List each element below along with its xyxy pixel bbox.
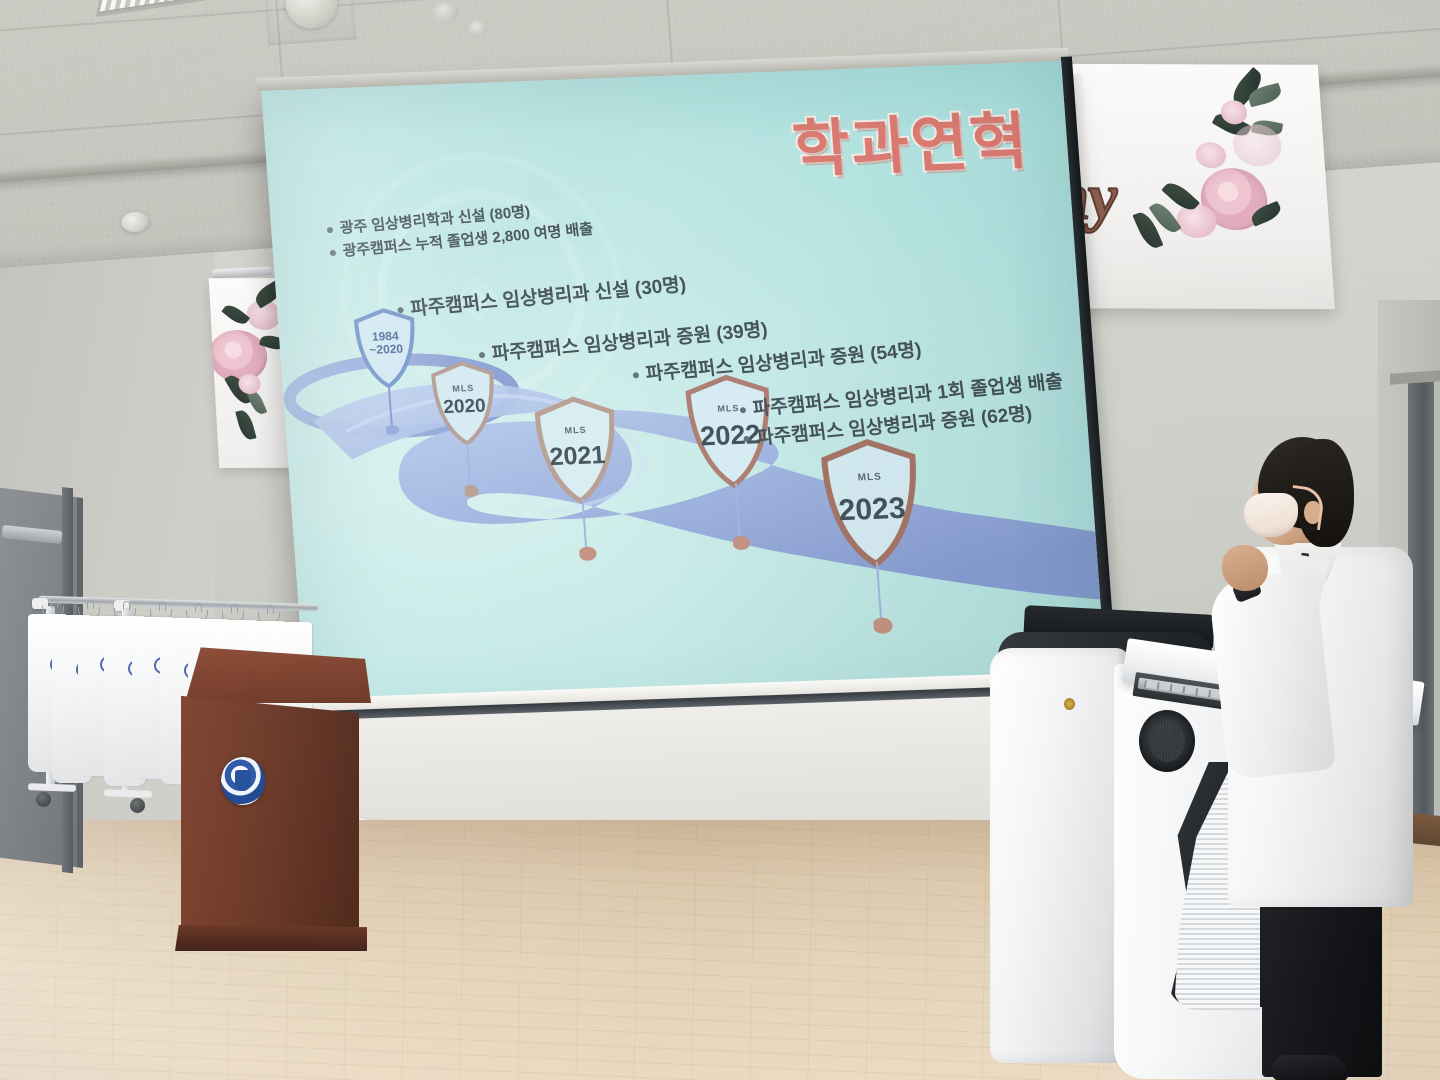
bullet-dot-icon — [743, 436, 750, 443]
rack-caster-icon — [36, 792, 51, 807]
bullet-dot-icon — [327, 227, 334, 234]
rack-foot — [104, 789, 152, 798]
console-left-panel — [990, 648, 1130, 1063]
projection-screen: U S ◈ 학과연혁 — [261, 61, 1109, 749]
bullet-group-5: 파주캠퍼스 임상병리과 1회 졸업생 배출 파주캠퍼스 임상병리과 증원 (62… — [738, 368, 1068, 454]
presenter-arm — [1208, 570, 1336, 780]
podium-top — [173, 645, 371, 703]
presenter-legs — [1262, 887, 1382, 1077]
presenter — [1200, 425, 1440, 1080]
bullet-item: 파주캠퍼스 임상병리과 신설 (30명) — [396, 271, 688, 325]
lecture-hall-photo: ny U S ◈ 학과연혁 — [0, 0, 1440, 1080]
slide-bullets: 광주 임상병리학과 신설 (80명) 광주캠퍼스 누적 졸업생 2,800 여명… — [261, 61, 1109, 749]
rack-caster-icon — [130, 798, 145, 813]
bullet-dot-icon — [479, 352, 486, 359]
presenter-hand — [1222, 545, 1268, 591]
console-brand-badge-icon — [1064, 698, 1075, 710]
bullet-dot-icon — [740, 407, 747, 414]
slide-canvas: U S ◈ 학과연혁 — [261, 61, 1109, 749]
university-seal-icon — [221, 757, 265, 805]
bullet-group-2: 파주캠퍼스 임상병리과 신설 (30명) — [396, 271, 688, 325]
presenter-shoe — [1272, 1055, 1348, 1080]
speaker-grille-icon — [1139, 710, 1195, 772]
podium-base — [175, 925, 367, 951]
bullet-dot-icon — [330, 249, 337, 256]
bullet-group-1: 광주 임상병리학과 신설 (80명) 광주캠퍼스 누적 졸업생 2,800 여명… — [326, 196, 595, 264]
wooden-podium[interactable] — [175, 645, 370, 955]
bullet-dot-icon — [397, 307, 404, 314]
podium-body — [181, 691, 359, 935]
bullet-dot-icon — [633, 372, 640, 379]
rack-foot — [28, 783, 76, 792]
